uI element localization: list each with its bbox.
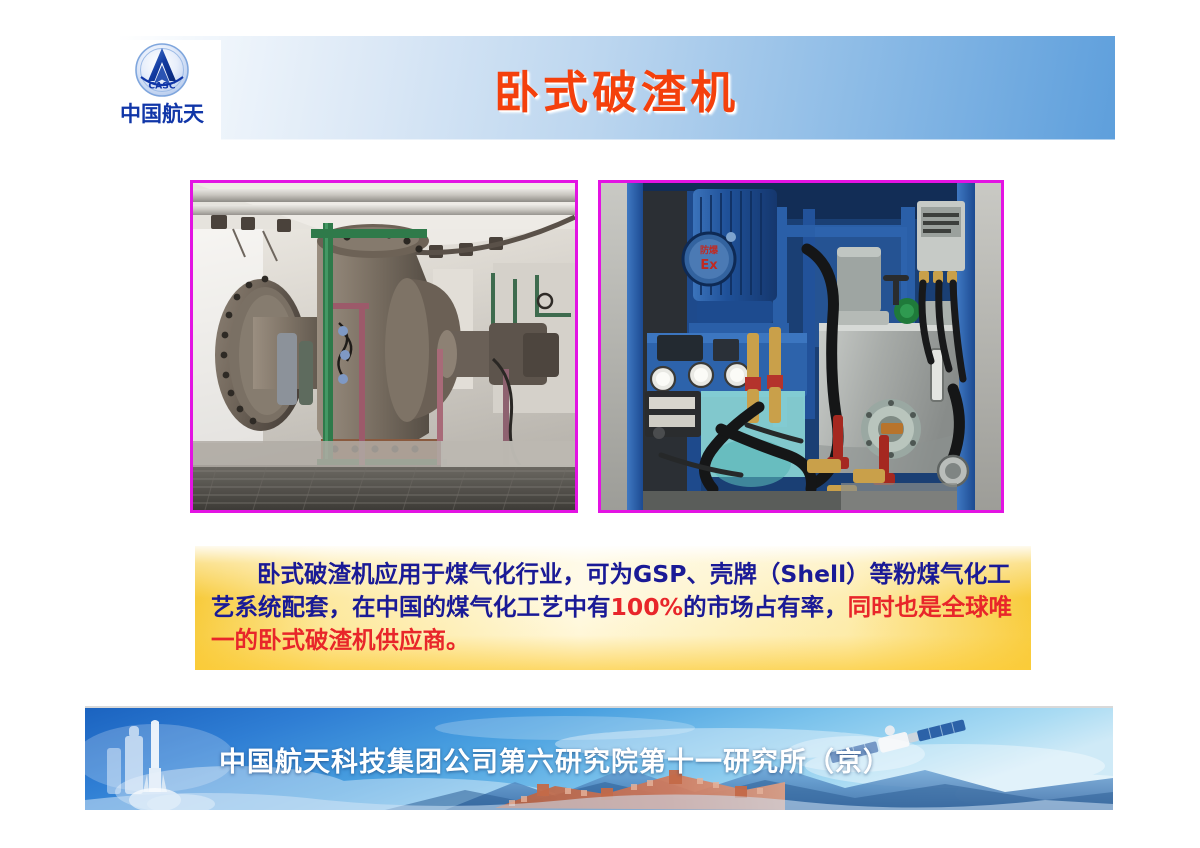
footer-organization-label: 中国航天科技集团公司第六研究院第十一研究所（京） [85,708,1113,810]
svg-text:防爆: 防爆 [700,244,719,256]
svg-text:Ex: Ex [700,258,718,273]
caption-text: 卧式破渣机应用于煤气化行业，可为GSP、壳牌（Shell）等粉煤气化工艺系统配套… [211,558,1015,657]
casc-logo-label: 中国航天 [120,104,204,125]
hydraulic-power-unit-photo: 防爆 Ex [598,180,1004,513]
casc-logo: CASC 中国航天 [103,40,221,140]
svg-text:CASC: CASC [148,81,175,92]
page-title: 卧式破渣机 [118,36,1115,140]
caption-segment-3: 的市场占有率， [683,593,848,621]
caption-segment-highlight-percent: 100% [611,593,684,621]
casc-emblem-icon: CASC [131,41,193,103]
caption-box: 卧式破渣机应用于煤气化行业，可为GSP、壳牌（Shell）等粉煤气化工艺系统配套… [195,546,1031,670]
horizontal-slag-crusher-vessel-photo [190,180,578,513]
slide-root: 卧式破渣机 [0,0,1200,848]
